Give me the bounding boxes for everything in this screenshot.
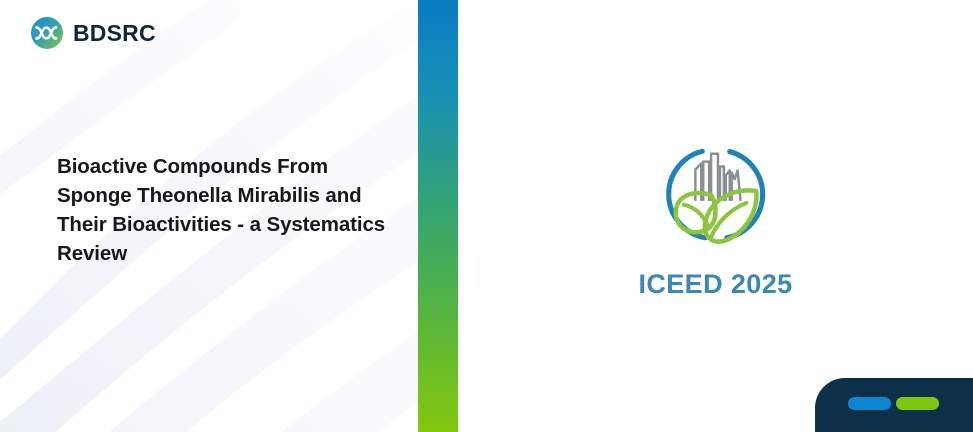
gradient-divider-bar	[418, 0, 458, 432]
accent-pill-green	[896, 397, 939, 410]
iceed-logo-icon	[662, 140, 770, 250]
brand-lockup: BDSRC	[30, 16, 156, 50]
left-panel: BDSRC Bioactive Compounds From Sponge Th…	[0, 0, 418, 432]
slide-canvas: BDSRC Bioactive Compounds From Sponge Th…	[0, 0, 973, 432]
page-title: Bioactive Compounds From Sponge Theonell…	[57, 152, 397, 268]
accent-pill-group	[848, 397, 939, 410]
bdsrc-logo-icon	[30, 16, 64, 50]
accent-corner-block	[815, 378, 973, 432]
right-panel: ICEED 2025	[458, 0, 973, 432]
accent-pill-blue	[848, 397, 891, 410]
conference-name: ICEED 2025	[638, 271, 792, 298]
brand-name: BDSRC	[73, 22, 156, 45]
conference-branding: ICEED 2025	[458, 140, 973, 298]
